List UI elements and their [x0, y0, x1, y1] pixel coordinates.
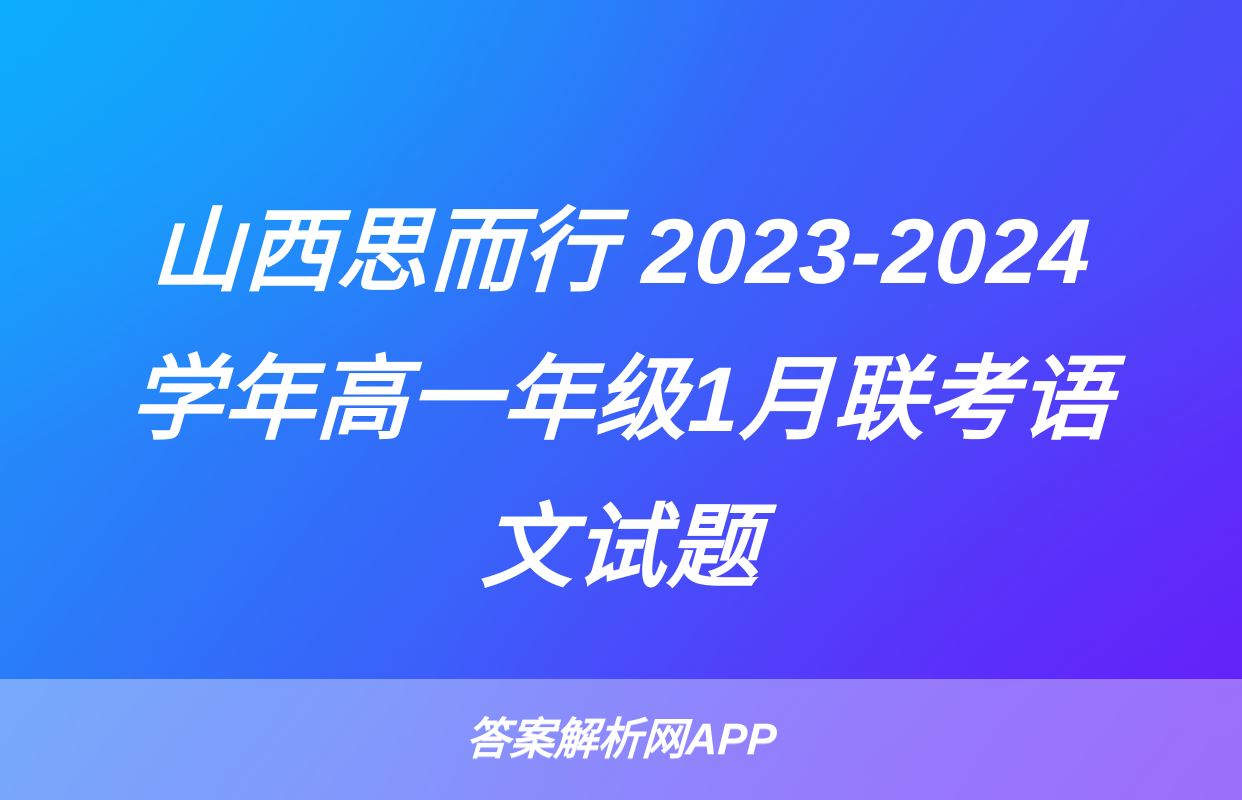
title-line-1: 山西思而行 2023-2024 — [81, 178, 1160, 326]
page-title: 山西思而行 2023-2024 学年高一年级1月联考语 文试题 — [0, 178, 1242, 622]
title-line-3: 文试题 — [81, 474, 1160, 622]
title-line-2: 学年高一年级1月联考语 — [81, 326, 1160, 474]
footer-brand-label: 答案解析网APP — [465, 718, 778, 762]
exam-cover-card: 山西思而行 2023-2024 学年高一年级1月联考语 文试题 答案解析网APP — [0, 0, 1242, 800]
footer-brand-band: 答案解析网APP — [0, 679, 1242, 800]
